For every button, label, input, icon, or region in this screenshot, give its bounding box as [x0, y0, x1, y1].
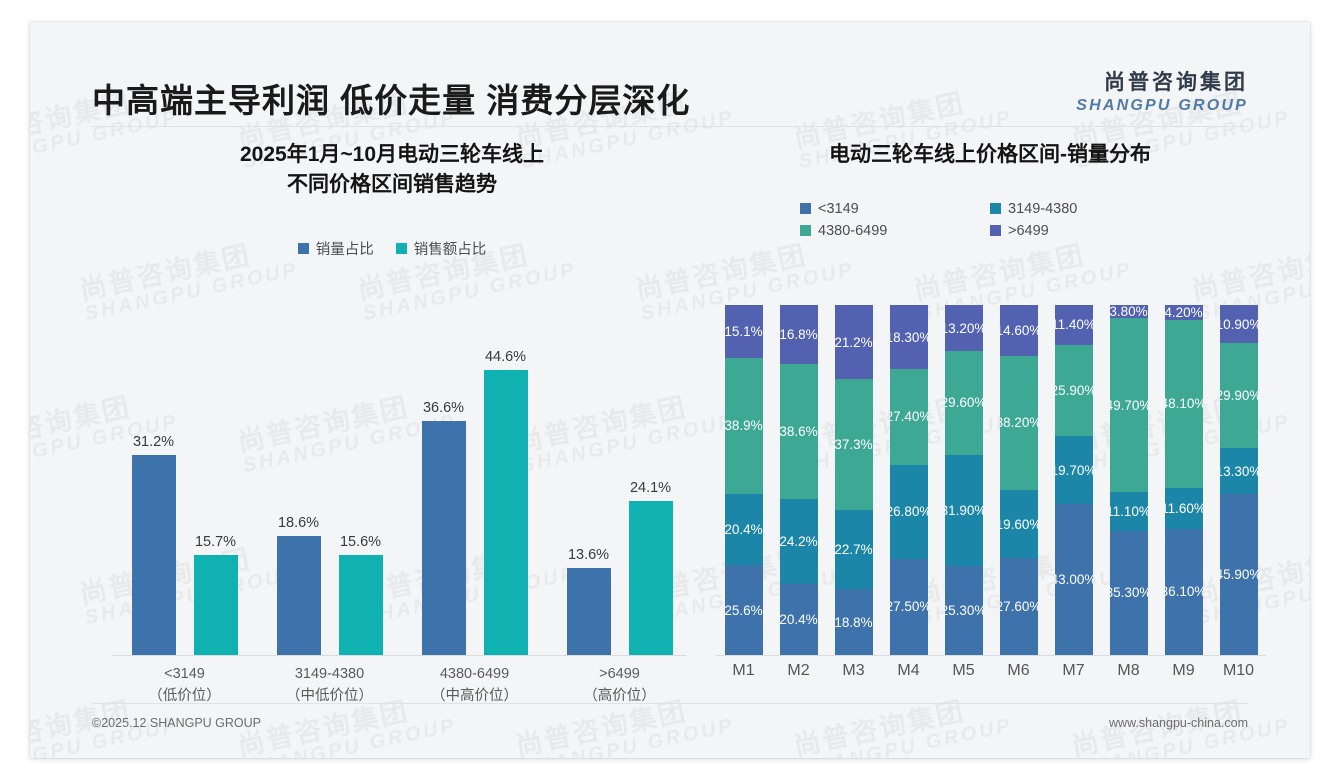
stacked-bar-column[interactable]: 3.80%49.70%11.10%35.30%: [1110, 305, 1148, 655]
month-tick-label: M8: [1110, 662, 1148, 680]
stacked-segment-value-label: 11.60%: [1165, 501, 1203, 516]
x-axis-tick-tier: （低价位）: [112, 686, 257, 708]
stacked-bar-segment[interactable]: 18.30%: [890, 305, 928, 369]
stacked-bar-segment[interactable]: 27.50%: [890, 559, 928, 655]
stacked-bar-segment[interactable]: 48.10%: [1165, 320, 1203, 488]
stacked-segment-value-label: 37.3%: [835, 437, 873, 452]
bar-rect[interactable]: [132, 455, 176, 655]
month-tick-label: M9: [1165, 662, 1203, 680]
stacked-segment-value-label: 4.20%: [1165, 305, 1203, 320]
stacked-segment-value-label: 20.4%: [725, 522, 763, 537]
stacked-segment-value-label: 14.60%: [1000, 323, 1038, 338]
stacked-bar-segment[interactable]: 13.30%: [1220, 448, 1258, 495]
bar-group: 31.2%15.7%: [112, 335, 257, 655]
stacked-segment-value-label: 38.6%: [780, 424, 818, 439]
legend-item[interactable]: <3149: [800, 201, 990, 217]
page-title: 中高端主导利润 低价走量 消费分层深化: [92, 74, 690, 122]
bar-rect[interactable]: [339, 555, 383, 655]
bar-rect[interactable]: [629, 501, 673, 655]
stacked-bar-segment[interactable]: 25.30%: [945, 566, 983, 655]
bar-value-label: 15.7%: [195, 534, 236, 550]
bar-value-label: 24.1%: [630, 480, 671, 496]
stacked-bar-segment[interactable]: 37.3%: [835, 379, 873, 510]
legend-item-label: <3149: [818, 201, 859, 217]
stacked-segment-value-label: 10.90%: [1220, 317, 1258, 332]
stacked-bar-segment[interactable]: 16.8%: [780, 305, 818, 364]
stacked-segment-value-label: 3.80%: [1110, 305, 1148, 318]
month-tick-label: M1: [725, 662, 763, 680]
bar-value-label: 15.6%: [340, 534, 381, 550]
stacked-segment-value-label: 27.40%: [890, 409, 928, 424]
left-chart-legend: 销量占比销售额占比: [92, 238, 692, 259]
x-axis-tick-range: >6499: [547, 664, 692, 686]
stacked-bar-segment[interactable]: 38.6%: [780, 364, 818, 499]
stacked-bar-segment[interactable]: 13.20%: [945, 305, 983, 351]
legend-item[interactable]: 3149-4380: [990, 201, 1180, 217]
month-tick-label: M5: [945, 662, 983, 680]
stacked-segment-value-label: 19.70%: [1055, 463, 1093, 478]
left-chart-title: 2025年1月~10月电动三轮车线上 不同价格区间销售趋势: [92, 140, 692, 200]
stacked-bar-column[interactable]: 11.40%25.90%19.70%43.00%: [1055, 305, 1093, 655]
x-axis-tick-label: 3149-4380（中低价位）: [257, 664, 402, 708]
left-chart-title-line2: 不同价格区间销售趋势: [92, 170, 692, 200]
stacked-segment-value-label: 36.10%: [1165, 584, 1203, 599]
stacked-bar-plot: 15.1%38.9%20.4%25.6%16.8%38.6%24.2%20.4%…: [716, 306, 1266, 656]
stacked-segment-value-label: 16.8%: [780, 327, 818, 342]
stacked-segment-value-label: 35.30%: [1110, 585, 1148, 600]
stacked-segment-value-label: 27.60%: [1000, 599, 1038, 614]
bar-column[interactable]: 24.1%: [629, 501, 673, 655]
month-tick-label: M6: [1000, 662, 1038, 680]
stacked-bar-segment[interactable]: 11.60%: [1165, 488, 1203, 529]
stacked-bar-segment[interactable]: 24.2%: [780, 499, 818, 584]
legend-item[interactable]: 销售额占比: [396, 238, 487, 259]
stacked-segment-value-label: 45.90%: [1220, 567, 1258, 582]
grouped-x-axis-labels: <3149（低价位）3149-4380（中低价位）4380-6499（中高价位）…: [112, 664, 692, 720]
bar-column[interactable]: 44.6%: [484, 370, 528, 655]
legend-swatch-icon: [990, 203, 1001, 214]
stacked-segment-value-label: 18.8%: [835, 615, 873, 630]
month-tick-label: M2: [780, 662, 818, 680]
bar-column[interactable]: 13.6%: [567, 568, 611, 655]
bar-value-label: 13.6%: [568, 547, 609, 563]
stacked-bar-segment[interactable]: 27.40%: [890, 369, 928, 465]
stacked-bar-segment[interactable]: 29.60%: [945, 351, 983, 455]
stacked-segment-value-label: 19.60%: [1000, 517, 1038, 532]
legend-item[interactable]: 销量占比: [298, 238, 374, 259]
legend-swatch-icon: [800, 225, 811, 236]
stacked-bar-segment[interactable]: 18.8%: [835, 589, 873, 655]
stacked-segment-value-label: 25.30%: [945, 603, 983, 618]
bar-rect[interactable]: [422, 421, 466, 655]
stacked-segment-value-label: 29.90%: [1220, 388, 1258, 403]
stacked-bar-segment[interactable]: 38.20%: [1000, 356, 1038, 490]
stacked-segment-value-label: 18.30%: [890, 330, 928, 345]
stacked-segment-value-label: 24.2%: [780, 534, 818, 549]
stacked-segment-value-label: 13.20%: [945, 321, 983, 336]
legend-item[interactable]: 4380-6499: [800, 223, 990, 239]
slide-canvas: 尚普咨询集团SHANGPU GROUP尚普咨询集团SHANGPU GROUP尚普…: [30, 22, 1310, 758]
x-axis-tick-range: 3149-4380: [257, 664, 402, 686]
right-chart-legend: <31493149-43804380-6499>6499: [775, 198, 1205, 242]
stacked-bar-segment[interactable]: 20.4%: [780, 584, 818, 655]
stacked-bar-segment[interactable]: 45.90%: [1220, 494, 1258, 655]
right-chart-title: 电动三轮车线上价格区间-销量分布: [710, 140, 1270, 170]
x-axis-tick-label: 4380-6499（中高价位）: [402, 664, 547, 708]
left-chart-panel: 2025年1月~10月电动三轮车线上 不同价格区间销售趋势 销量占比销售额占比 …: [92, 140, 692, 700]
stacked-segment-value-label: 22.7%: [835, 542, 873, 557]
right-chart-panel: 电动三轮车线上价格区间-销量分布 <31493149-43804380-6499…: [710, 140, 1270, 700]
stacked-axis-line: [716, 655, 1266, 656]
bar-rect[interactable]: [484, 370, 528, 655]
stacked-bar-segment[interactable]: 19.70%: [1055, 436, 1093, 505]
stacked-bar-segment[interactable]: 26.80%: [890, 465, 928, 559]
stacked-bar-segment[interactable]: 4.20%: [1165, 305, 1203, 320]
stacked-bar-segment[interactable]: 25.6%: [725, 565, 763, 655]
stacked-bar-segment[interactable]: 21.2%: [835, 305, 873, 379]
bar-group: 36.6%44.6%: [402, 335, 547, 655]
month-tick-label: M3: [835, 662, 873, 680]
x-axis-tick-range: 4380-6499: [402, 664, 547, 686]
stacked-segment-value-label: 11.10%: [1110, 504, 1148, 519]
stacked-bar-segment[interactable]: 38.9%: [725, 358, 763, 494]
brand-name-en: SHANGPU GROUP: [1076, 97, 1248, 115]
bar-group: 18.6%15.6%: [257, 335, 402, 655]
stacked-bar-segment[interactable]: 49.70%: [1110, 318, 1148, 492]
slide-header: 中高端主导利润 低价走量 消费分层深化 尚普咨询集团 SHANGPU GROUP: [30, 22, 1310, 118]
x-axis-tick-label: >6499（高价位）: [547, 664, 692, 708]
stacked-bar-segment[interactable]: 11.40%: [1055, 305, 1093, 345]
bar-column[interactable]: 36.6%: [422, 421, 466, 655]
stacked-segment-value-label: 25.6%: [725, 603, 763, 618]
bar-value-label: 36.6%: [423, 400, 464, 416]
stacked-bar-column[interactable]: 13.20%29.60%31.90%25.30%: [945, 305, 983, 655]
stacked-segment-value-label: 48.10%: [1165, 396, 1203, 411]
bar-rect[interactable]: [567, 568, 611, 655]
stacked-bar-segment[interactable]: 14.60%: [1000, 305, 1038, 356]
header-divider: [92, 126, 1248, 127]
stacked-bar-segment[interactable]: 43.00%: [1055, 504, 1093, 655]
stacked-bar-segment[interactable]: 36.10%: [1165, 529, 1203, 655]
stacked-bar-column[interactable]: 21.2%37.3%22.7%18.8%: [835, 305, 873, 655]
stacked-bar-column[interactable]: 16.8%38.6%24.2%20.4%: [780, 305, 818, 655]
x-axis-tick-tier: （高价位）: [547, 686, 692, 708]
stacked-bar-segment[interactable]: 25.90%: [1055, 345, 1093, 436]
grouped-bar-plot: 31.2%15.7%18.6%15.6%36.6%44.6%13.6%24.1%: [112, 336, 692, 656]
stacked-bar-segment[interactable]: 15.1%: [725, 305, 763, 358]
brand-name-cn: 尚普咨询集团: [1076, 66, 1248, 96]
stacked-segment-value-label: 20.4%: [780, 612, 818, 627]
stacked-bar-segment[interactable]: 19.60%: [1000, 490, 1038, 559]
x-axis-tick-label: <3149（低价位）: [112, 664, 257, 708]
left-chart-title-line1: 2025年1月~10月电动三轮车线上: [92, 140, 692, 170]
stacked-bar-segment[interactable]: 3.80%: [1110, 305, 1148, 318]
stacked-segment-value-label: 49.70%: [1110, 398, 1148, 413]
bar-column[interactable]: 18.6%: [277, 536, 321, 655]
bar-column[interactable]: 15.6%: [339, 555, 383, 655]
stacked-segment-value-label: 11.40%: [1055, 317, 1093, 332]
stacked-segment-value-label: 38.9%: [725, 418, 763, 433]
bar-group: 13.6%24.1%: [547, 335, 692, 655]
footer-divider: [92, 703, 1248, 704]
bar-value-label: 18.6%: [278, 515, 319, 531]
x-axis-tick-tier: （中高价位）: [402, 686, 547, 708]
bar-column[interactable]: 15.7%: [194, 555, 238, 655]
bar-rect[interactable]: [194, 555, 238, 655]
stacked-bar-segment[interactable]: 29.90%: [1220, 343, 1258, 448]
brand-logo: 尚普咨询集团 SHANGPU GROUP: [1076, 66, 1248, 115]
stacked-bar-column[interactable]: 14.60%38.20%19.60%27.60%: [1000, 305, 1038, 655]
legend-item-label: >6499: [1008, 223, 1049, 239]
month-tick-label: M7: [1055, 662, 1093, 680]
grouped-axis-line: [112, 655, 686, 656]
footer-copyright: ©2025.12 SHANGPU GROUP: [92, 716, 261, 730]
legend-swatch-icon: [298, 243, 309, 254]
legend-item-label: 3149-4380: [1008, 201, 1077, 217]
month-tick-label: M4: [890, 662, 928, 680]
stacked-segment-value-label: 29.60%: [945, 395, 983, 410]
stacked-x-axis-labels: M1M2M3M4M5M6M7M8M9M10: [716, 662, 1266, 692]
stacked-bar-segment[interactable]: 10.90%: [1220, 305, 1258, 343]
bar-rect[interactable]: [277, 536, 321, 655]
stacked-segment-value-label: 27.50%: [890, 599, 928, 614]
legend-item[interactable]: >6499: [990, 223, 1180, 239]
legend-swatch-icon: [990, 225, 1001, 236]
stacked-segment-value-label: 38.20%: [1000, 415, 1038, 430]
stacked-segment-value-label: 21.2%: [835, 335, 873, 350]
stacked-segment-value-label: 26.80%: [890, 504, 928, 519]
stacked-bar-segment[interactable]: 11.10%: [1110, 492, 1148, 531]
stacked-segment-value-label: 43.00%: [1055, 572, 1093, 587]
stacked-segment-value-label: 25.90%: [1055, 383, 1093, 398]
legend-item-label: 4380-6499: [818, 223, 887, 239]
stacked-bar-segment[interactable]: 35.30%: [1110, 531, 1148, 655]
footer-website: www.shangpu-china.com: [1109, 716, 1248, 730]
stacked-segment-value-label: 15.1%: [725, 324, 763, 339]
bar-value-label: 31.2%: [133, 434, 174, 450]
x-axis-tick-range: <3149: [112, 664, 257, 686]
bar-value-label: 44.6%: [485, 349, 526, 365]
x-axis-tick-tier: （中低价位）: [257, 686, 402, 708]
stacked-segment-value-label: 13.30%: [1220, 464, 1258, 479]
stacked-bar-segment[interactable]: 31.90%: [945, 455, 983, 567]
legend-item-label: 销量占比: [316, 238, 374, 259]
stacked-bar-segment[interactable]: 27.60%: [1000, 558, 1038, 655]
stacked-segment-value-label: 31.90%: [945, 503, 983, 518]
legend-item-label: 销售额占比: [414, 238, 487, 259]
stacked-bar-segment[interactable]: 20.4%: [725, 494, 763, 565]
stacked-bar-column[interactable]: 4.20%48.10%11.60%36.10%: [1165, 305, 1203, 655]
stacked-bar-column[interactable]: 18.30%27.40%26.80%27.50%: [890, 305, 928, 655]
stacked-bar-column[interactable]: 15.1%38.9%20.4%25.6%: [725, 305, 763, 655]
legend-swatch-icon: [396, 243, 407, 254]
legend-swatch-icon: [800, 203, 811, 214]
bar-column[interactable]: 31.2%: [132, 455, 176, 655]
stacked-bar-segment[interactable]: 22.7%: [835, 510, 873, 589]
stacked-bar-column[interactable]: 10.90%29.90%13.30%45.90%: [1220, 305, 1258, 655]
month-tick-label: M10: [1220, 662, 1258, 680]
